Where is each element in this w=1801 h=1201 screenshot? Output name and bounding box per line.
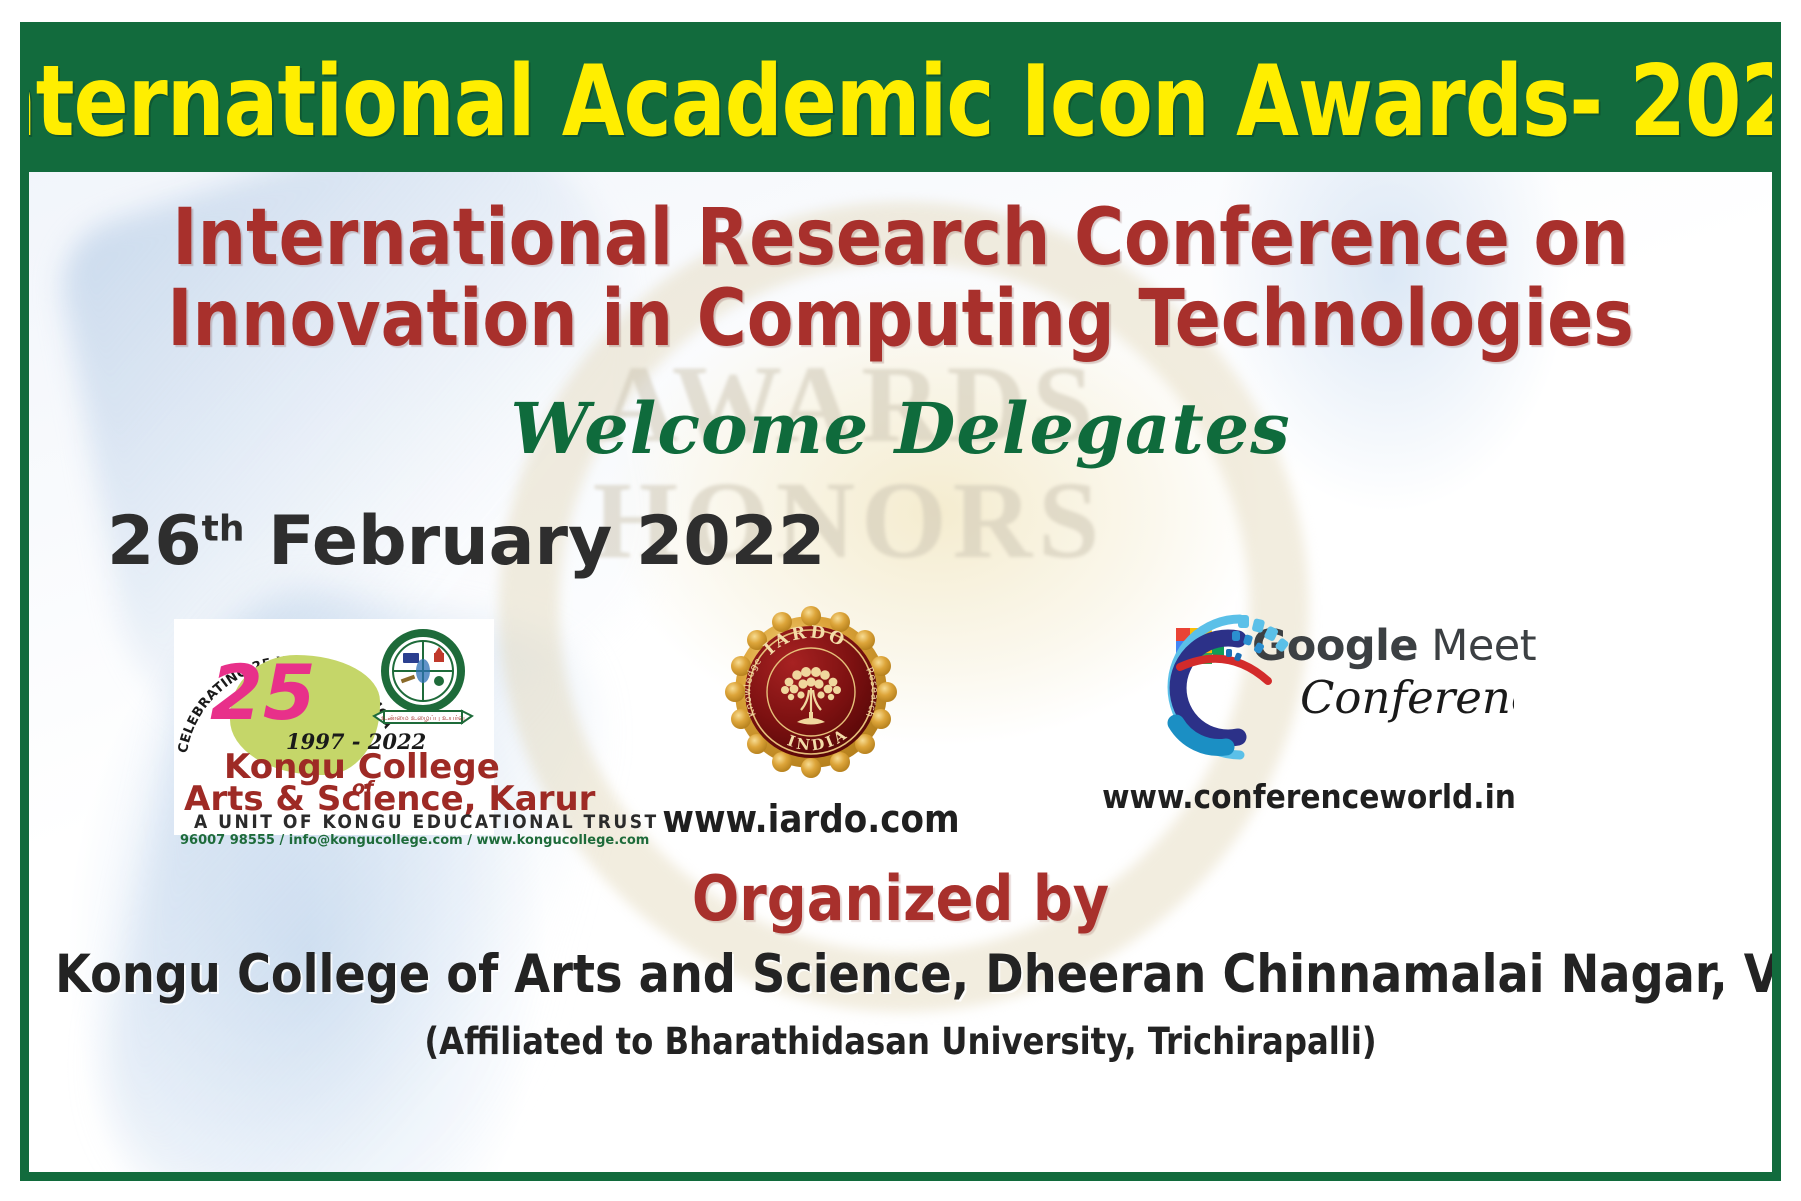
svg-text:உண்மை உழைப்பு உயர்வு: உண்மை உழைப்பு உயர்வு bbox=[381, 714, 465, 722]
headline-line-2: Innovation in Computing Technologies bbox=[94, 279, 1707, 360]
kongu-trust-line: A UNIT OF KONGU EDUCATIONAL TRUST bbox=[194, 811, 659, 833]
awards-title: International Academic Icon Awards- 2022 bbox=[29, 53, 1772, 151]
iardo-url[interactable]: www.iardo.com bbox=[641, 797, 981, 841]
conference-world-logo: Conference World bbox=[1114, 597, 1514, 777]
kongu-crest-icon: உண்மை உழைப்பு உயர்வு bbox=[370, 625, 476, 731]
event-banner: International Academic Icon Awards- 2022… bbox=[0, 0, 1801, 1201]
banner-content: AWARDS HONORS International Research Con… bbox=[29, 172, 1772, 1172]
svg-text:Conference World: Conference World bbox=[1300, 671, 1514, 724]
conference-headline: International Research Conference on Inn… bbox=[94, 198, 1707, 360]
organizer-name: Kongu College of Arts and Science, Dheer… bbox=[55, 944, 1746, 1005]
organized-by-label: Organized by bbox=[29, 862, 1772, 935]
kongu-name-of: of bbox=[352, 777, 373, 799]
kongu-anniversary-number: 25 bbox=[210, 655, 316, 731]
event-day: 26 bbox=[107, 502, 202, 581]
banner-frame: International Academic Icon Awards- 2022… bbox=[20, 22, 1781, 1181]
event-month-year: February 2022 bbox=[268, 502, 825, 581]
title-bar: International Academic Icon Awards- 2022 bbox=[29, 31, 1772, 172]
organizer-affiliation: (Affiliated to Bharathidasan University,… bbox=[55, 1020, 1746, 1063]
headline-line-1: International Research Conference on bbox=[94, 198, 1707, 279]
kongu-college-logo: CELEBRATING 25 YEARS OF EDUCATIONAL EXCE… bbox=[174, 619, 494, 835]
event-day-ordinal: th bbox=[202, 508, 245, 549]
welcome-delegates-text: Welcome Delegates bbox=[29, 387, 1772, 470]
conference-world-url[interactable]: www.conferenceworld.in bbox=[1089, 777, 1529, 816]
kongu-contact-line: 96007 98555 / info@kongucollege.com / ww… bbox=[180, 833, 649, 848]
event-date: 26th February 2022 bbox=[107, 502, 825, 581]
iardo-seal-icon: IARDO INDIA Knowledge Research bbox=[721, 602, 901, 782]
